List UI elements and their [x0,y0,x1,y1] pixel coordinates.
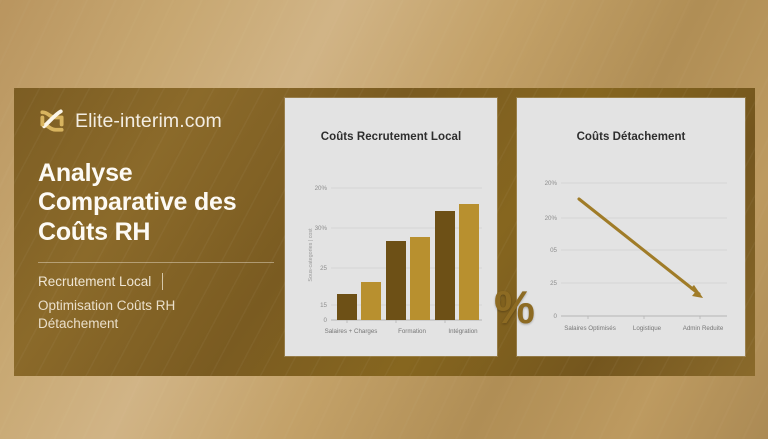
svg-text:15: 15 [320,302,327,309]
svg-text:Logistique: Logistique [633,325,662,332]
y-axis-tick-labels: 20% 20% 05 25 0 [545,180,558,320]
svg-text:Formation: Formation [398,328,426,335]
svg-text:05: 05 [550,247,557,254]
svg-text:0: 0 [554,313,558,320]
svg-text:20%: 20% [315,185,328,192]
content-card: Elite-interim.com Analyse Comparative de… [14,88,755,376]
svg-text:30%: 30% [315,225,328,232]
svg-text:25: 25 [320,265,327,272]
svg-text:Salaires + Charges: Salaires + Charges [325,328,378,335]
left-text-column: Elite-interim.com Analyse Comparative de… [38,104,290,332]
svg-text:20%: 20% [545,180,558,187]
bar-series [337,204,479,320]
subtitle-primary: Recrutement Local [38,274,151,289]
bar [410,237,430,320]
slide-canvas: Elite-interim.com Analyse Comparative de… [0,0,768,439]
x-axis-category-labels: Salaires Optimisés Logistique Admin Redu… [564,325,724,332]
bar [435,211,455,320]
bar [337,294,357,320]
title-divider-rule [38,262,274,263]
x-axis-ticks [588,316,700,319]
bar [386,241,406,320]
y-axis-tick-labels: 20% 30% 25 15 0 [315,185,328,324]
x-axis-ticks [347,320,445,323]
subtitle-secondary: Optimisation Coûts RH Détachement [38,297,290,333]
line-chart-svg: 20% 20% 05 25 0 [517,98,745,356]
svg-text:25: 25 [550,280,557,287]
bar [361,282,381,320]
x-axis-category-labels: Salaires + Charges Formation Intégration [325,328,479,335]
line-chart-plot: 20% 20% 05 25 0 [517,98,745,356]
svg-text:0: 0 [324,317,328,324]
svg-text:Intégration: Intégration [448,328,478,335]
percent-symbol-decoration: % [494,284,535,330]
crossed-ribbon-logo-icon [38,107,66,135]
svg-text:Admin Reduite: Admin Reduite [683,325,724,332]
svg-text:Salaires Optimisés: Salaires Optimisés [564,325,616,332]
brand-row: Elite-interim.com [38,104,290,138]
bar [459,204,479,320]
bar-chart-plot: 20% 30% 25 15 0 Sous-categories | cost [285,98,497,356]
chart-card-recrutement-local: Coûts Recrutement Local 20% 30% [285,98,497,356]
page-title: Analyse Comparative des Coûts RH [38,159,290,247]
chart-card-detachement: Coûts Détachement 20% 20% [517,98,745,356]
bar-chart-svg: 20% 30% 25 15 0 Sous-categories | cost [285,98,497,356]
subtitle-divider [162,273,163,290]
svg-text:20%: 20% [545,215,558,222]
brand-name: Elite-interim.com [75,110,222,133]
subtitle-row: Recrutement Local [38,273,290,290]
y-axis-title: Sous-categories | cost [308,228,314,282]
